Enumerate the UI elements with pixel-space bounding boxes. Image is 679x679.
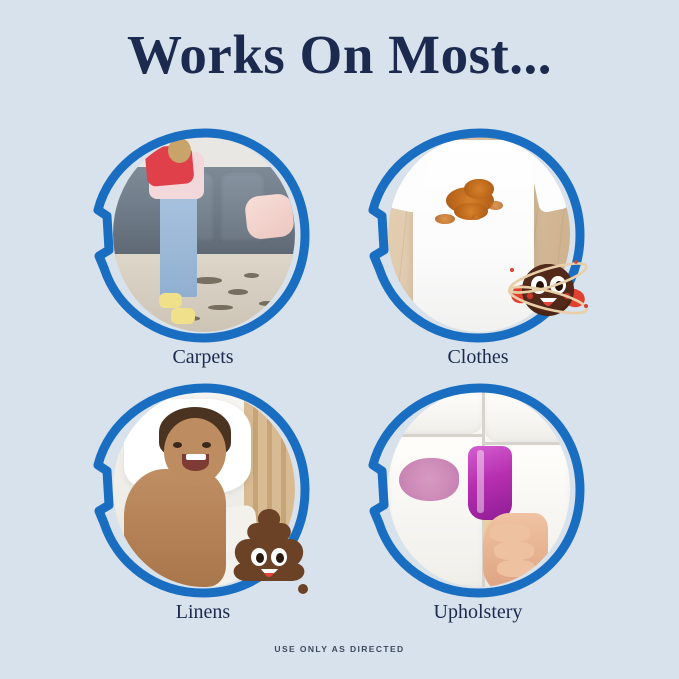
- caption-clothes: Clothes: [358, 346, 598, 369]
- blob-frame-carpets: [93, 128, 313, 343]
- disclaimer-text: USE ONLY AS DIRECTED: [0, 644, 679, 654]
- infographic-page: Works On Most...: [0, 0, 679, 679]
- surface-cell-carpets[interactable]: Carpets: [93, 128, 333, 378]
- poop-emoji-icon: [223, 501, 315, 593]
- surface-cell-linens[interactable]: Linens: [93, 383, 333, 633]
- caption-carpets: Carpets: [83, 346, 323, 369]
- caption-upholstery: Upholstery: [358, 601, 598, 624]
- caption-linens: Linens: [83, 601, 323, 624]
- page-title: Works On Most...: [0, 26, 679, 84]
- dizzy-poop-emoji-icon: [500, 240, 596, 336]
- surface-grid: Carpets: [0, 128, 679, 628]
- surface-cell-upholstery[interactable]: Upholstery: [368, 383, 608, 633]
- blob-frame-upholstery: [368, 383, 588, 598]
- surface-cell-clothes[interactable]: Clothes: [368, 128, 608, 378]
